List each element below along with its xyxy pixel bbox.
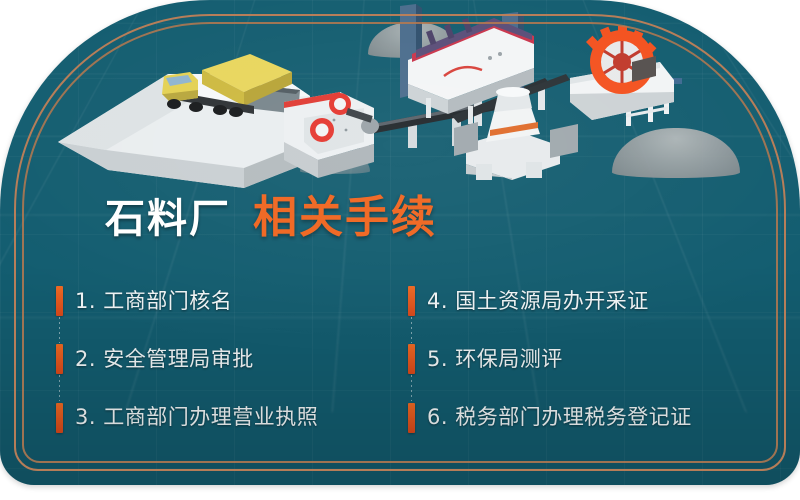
list-item[interactable]: 4. 国土资源局办开采证 [408,272,756,330]
list-item-label: 6. 税务部门办理税务登记证 [427,405,692,430]
list-item[interactable]: 6. 税务部门办理税务登记证 [408,389,756,447]
bullet-marker-icon [56,286,63,316]
list-item-label: 5. 环保局测评 [427,347,563,372]
title-primary-text: 石料厂 [105,199,231,239]
poster-card: 石料厂 相关手续 1. 工商部门核名 4. 国土资源局办开采证 2. 安全管理局… [0,0,800,485]
list-item[interactable]: 5. 环保局测评 [408,330,756,388]
poster-title: 石料厂 相关手续 [105,196,437,240]
bullet-marker-icon [408,403,415,433]
list-item[interactable]: 1. 工商部门核名 [56,272,408,330]
plant-illustration [0,0,800,195]
list-item-label: 4. 国土资源局办开采证 [427,289,649,314]
title-accent-text: 相关手续 [253,196,437,240]
list-item-label: 2. 安全管理局审批 [75,347,254,372]
list-item-label: 1. 工商部门核名 [75,289,232,314]
poster-root: 石料厂 相关手续 1. 工商部门核名 4. 国土资源局办开采证 2. 安全管理局… [0,0,800,500]
list-item-label: 3. 工商部门办理营业执照 [75,405,318,430]
bullet-marker-icon [56,344,63,374]
bullet-marker-icon [408,344,415,374]
dump-truck-icon [158,48,298,128]
bullet-marker-icon [408,286,415,316]
list-item[interactable]: 2. 安全管理局审批 [56,330,408,388]
bullet-marker-icon [56,403,63,433]
sand-washer-icon [540,18,700,128]
procedure-list: 1. 工商部门核名 4. 国土资源局办开采证 2. 安全管理局审批 5. 环保局… [56,272,756,447]
list-item[interactable]: 3. 工商部门办理营业执照 [56,389,408,447]
